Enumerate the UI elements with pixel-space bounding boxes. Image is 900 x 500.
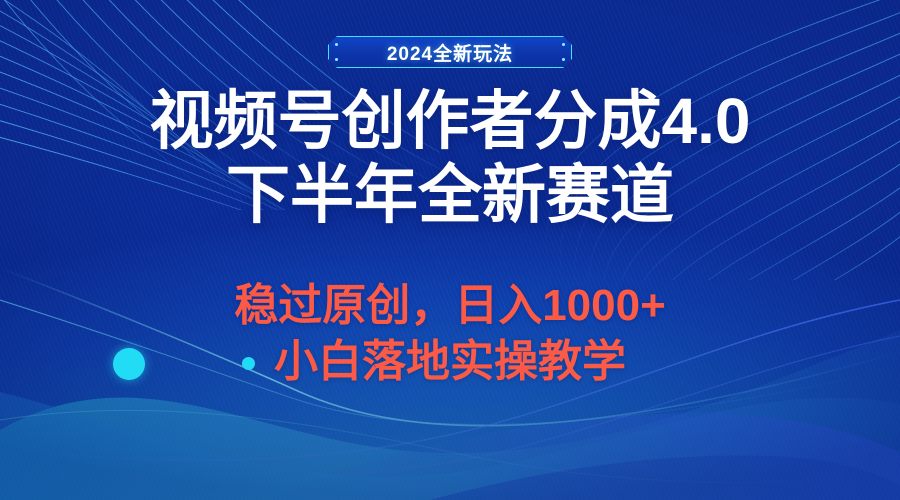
badge-label: 2024全新玩法: [387, 39, 513, 66]
title-block: 视频号创作者分成4.0 下半年全新赛道: [0, 84, 900, 232]
title-line-2: 下半年全新赛道: [0, 158, 900, 232]
promo-badge: 2024全新玩法: [328, 36, 572, 68]
badge-corner-dot-icon: [335, 43, 338, 46]
badge-corner-dot-icon: [562, 43, 565, 46]
title-line-1: 视频号创作者分成4.0: [0, 84, 900, 158]
cyan-dot-small-icon: [242, 357, 255, 370]
subtitle-line-1: 稳过原创，日入1000+: [0, 278, 900, 334]
promo-poster: 2024全新玩法 视频号创作者分成4.0 下半年全新赛道 稳过原创，日入1000…: [0, 0, 900, 500]
poster-content: 2024全新玩法 视频号创作者分成4.0 下半年全新赛道 稳过原创，日入1000…: [0, 0, 900, 500]
cyan-dot-large-icon: [113, 348, 145, 380]
badge-row: 2024全新玩法: [0, 36, 900, 68]
badge-corner-dot-icon: [562, 58, 565, 61]
badge-corner-dot-icon: [335, 58, 338, 61]
